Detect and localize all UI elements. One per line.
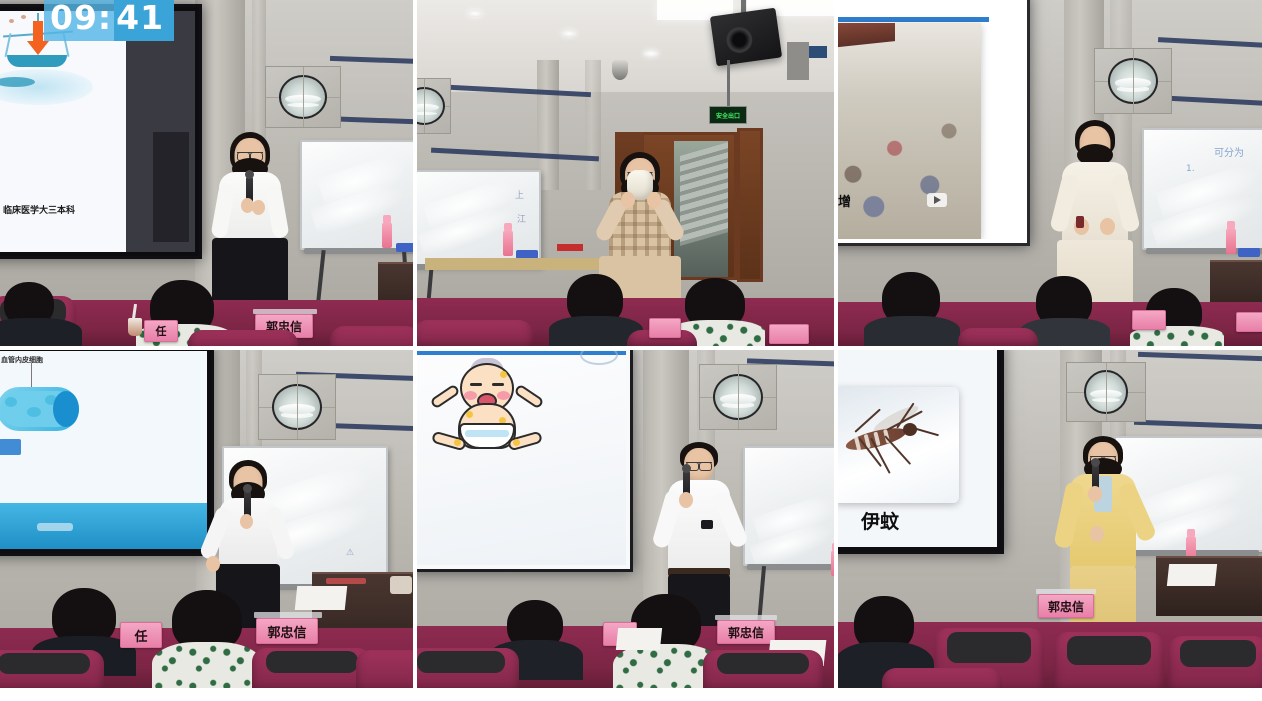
audience-seat [958, 328, 1038, 346]
slide-caption: 血管内皮细胞 [1, 355, 43, 365]
nameplate-stand [1036, 589, 1096, 594]
door-panel [737, 128, 763, 282]
paper-sheet [1167, 564, 1217, 586]
audience-seat [252, 648, 372, 688]
nameplate-stand [254, 612, 322, 618]
nameplate: 郭忠信 [1038, 594, 1094, 618]
speaker-cable [727, 60, 730, 108]
spray-bottle [382, 222, 392, 248]
audience-seat [703, 650, 823, 688]
ceiling-light [467, 10, 483, 17]
photo-collage-grid: 临床医学大三本科 [0, 0, 1262, 701]
slide-surface [417, 351, 626, 565]
nameplate [1236, 312, 1262, 332]
photo-panel-bottom-right[interactable]: 伊蚊 [838, 350, 1262, 695]
audience-shoulders [0, 318, 82, 346]
paper-sheet [616, 628, 662, 650]
nameplate-stand [253, 309, 317, 314]
wall-light-fixture [699, 364, 777, 430]
nameplate: 任 [120, 622, 162, 648]
audience-seat [188, 330, 298, 346]
slide-caption: 临床医学大三本科 [3, 203, 75, 216]
audience-shoulders [864, 316, 960, 346]
ceiling-light [561, 30, 577, 37]
nameplate: 郭忠信 [717, 620, 775, 644]
projection-screen: 血管内皮细胞 [0, 350, 214, 556]
security-camera [612, 60, 628, 80]
wristwatch [701, 520, 713, 529]
whiteboard [743, 446, 834, 566]
audience-shoulders [152, 642, 262, 688]
projection-screen [417, 350, 633, 572]
nameplate [769, 324, 809, 344]
wall-light-fixture [265, 66, 341, 128]
presentation-clicker [1076, 216, 1084, 228]
whiteboard-writing: 1. [1186, 164, 1195, 174]
red-object [557, 244, 583, 251]
photo-panel-top-left[interactable]: 临床医学大三本科 [0, 0, 417, 350]
wall-light-fixture [1094, 48, 1172, 114]
disaster-photo [838, 23, 981, 239]
paper-sheet [295, 586, 348, 610]
ceiling-light [643, 50, 659, 57]
slide-surface: 临床医学大三本科 [0, 11, 195, 252]
wall-light-fixture [417, 78, 451, 134]
spray-bottle [831, 550, 834, 576]
slide-caption: 递增 [838, 191, 851, 210]
mosquito-photo [838, 387, 959, 503]
audience-seat [356, 650, 413, 688]
ceiling-speaker [710, 8, 782, 67]
exit-sign: 安全出口 [709, 106, 747, 124]
photo-panel-top-right[interactable]: 递增 可分为 1. [838, 0, 1262, 350]
slide-surface: 血管内皮细胞 [0, 351, 207, 549]
audience-seat [417, 320, 533, 346]
time-overlay-badge: 09: 41 [44, 0, 174, 41]
audience-seat [417, 648, 519, 688]
wall-box [787, 42, 809, 80]
wall-display [809, 46, 827, 58]
slide-icon [0, 439, 21, 455]
projection-screen: 递增 [838, 0, 1030, 246]
time-overlay-hours: 09: [44, 0, 114, 41]
slide-surface: 递增 [838, 1, 1023, 239]
audience-seat [0, 650, 104, 688]
drink-cup [128, 318, 142, 336]
wall-light-fixture [1066, 362, 1146, 422]
marker-box [1238, 248, 1260, 257]
photo-panel-bottom-left[interactable]: 血管内皮细胞 [0, 350, 417, 695]
audience-seat [882, 668, 1002, 688]
nameplate [649, 318, 681, 338]
time-overlay-minutes: 41 [114, 0, 174, 41]
play-icon[interactable] [927, 193, 947, 207]
spray-bottle [503, 230, 513, 256]
projection-screen: 伊蚊 [838, 350, 1004, 554]
crying-baby-illustration [432, 361, 542, 447]
desk-object [390, 576, 412, 594]
whiteboard [300, 140, 413, 250]
audience-seat [1054, 632, 1164, 688]
photo-panel-bottom-center[interactable]: 郭忠信 [417, 350, 838, 695]
nameplate-stand [715, 615, 777, 620]
spray-bottle [1226, 228, 1236, 254]
marker [326, 578, 366, 584]
wall-light-fixture [258, 374, 336, 440]
nameplate [1132, 310, 1166, 330]
slide-caption: 伊蚊 [861, 507, 899, 534]
slide-surface: 伊蚊 [838, 350, 997, 547]
nameplate: 任 [144, 320, 178, 342]
marker-box [396, 243, 413, 252]
projection-screen: 临床医学大三本科 [0, 4, 202, 259]
nameplate: 郭忠信 [256, 618, 318, 644]
audience-seat [330, 326, 413, 346]
slide-footer-band [0, 503, 207, 549]
whiteboard: 可分为 1. [1142, 128, 1262, 250]
ledge [425, 258, 605, 270]
audience-seat [1168, 636, 1262, 688]
photo-panel-top-center[interactable]: 安全出口 上 江 [417, 0, 838, 350]
whiteboard-writing: 可分为 [1214, 144, 1244, 159]
